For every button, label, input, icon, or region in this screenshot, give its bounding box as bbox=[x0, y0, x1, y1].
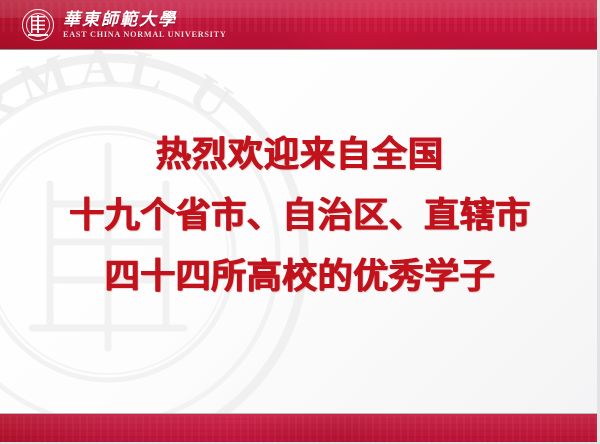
university-name-en: EAST CHINA NORMAL UNIVERSITY bbox=[63, 31, 226, 39]
university-seal-icon bbox=[22, 9, 54, 41]
seal-base bbox=[28, 34, 48, 35]
presentation-slide: 華東師範大學 EAST CHINA NORMAL UNIVERSITY bbox=[0, 0, 600, 444]
headline-block: 热烈欢迎来自全国 十九个省市、自治区、直辖市 四十四所高校的优秀学子 bbox=[0, 50, 600, 295]
headline-line-2: 十九个省市、自治区、直辖市 bbox=[0, 199, 600, 234]
seal-stem bbox=[37, 15, 39, 33]
university-wordmark: 華東師範大學 EAST CHINA NORMAL UNIVERSITY bbox=[63, 11, 226, 39]
university-name-cn: 華東師範大學 bbox=[63, 11, 226, 28]
footer-sheen-overlay bbox=[0, 414, 600, 444]
slide-footer-band bbox=[0, 414, 600, 444]
university-logo-lockup: 華東師範大學 EAST CHINA NORMAL UNIVERSITY bbox=[22, 9, 226, 41]
headline-line-1: 热烈欢迎来自全国 bbox=[0, 138, 600, 173]
slide-body: NORMAL U 热烈欢迎来自全国 十九个省市、自治区、直辖市 四十四所高校的优… bbox=[0, 50, 600, 414]
headline-line-3: 四十四所高校的优秀学子 bbox=[0, 260, 600, 295]
